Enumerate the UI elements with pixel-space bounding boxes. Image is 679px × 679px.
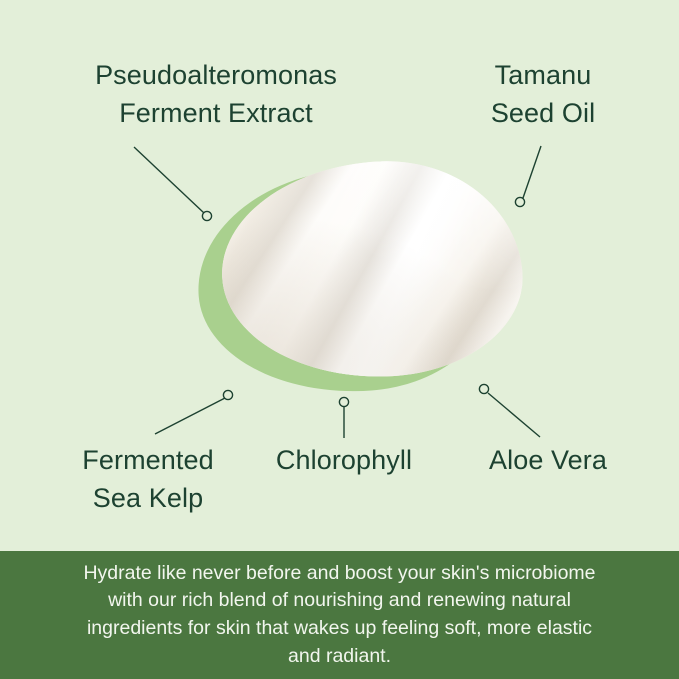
footer-band: Hydrate like never before and boost your…: [0, 551, 679, 679]
callout-label-aloe-vera: Aloe Vera: [448, 441, 648, 479]
callout-label-tamanu-seed-oil: Tamanu Seed Oil: [437, 56, 649, 133]
connector-line-sea-kelp: [155, 398, 225, 434]
cream-texture-shading: [217, 154, 528, 384]
callout-label-fermented-sea-kelp: Fermented Sea Kelp: [30, 441, 266, 518]
footer-description: Hydrate like never before and boost your…: [60, 560, 620, 671]
connector-line-aloe-vera: [488, 393, 540, 437]
ingredient-infographic: Pseudoalteromonas Ferment Extract Tamanu…: [0, 0, 679, 679]
product-visual: [190, 152, 530, 397]
callout-label-pseudoalteromonas-ferment-extract: Pseudoalteromonas Ferment Extract: [30, 56, 402, 133]
callout-label-chlorophyll: Chlorophyll: [248, 441, 440, 479]
connector-dot-chlorophyll: [339, 397, 348, 406]
infographic-top-panel: Pseudoalteromonas Ferment Extract Tamanu…: [0, 0, 679, 551]
cream-texture-swatch: [217, 154, 528, 384]
